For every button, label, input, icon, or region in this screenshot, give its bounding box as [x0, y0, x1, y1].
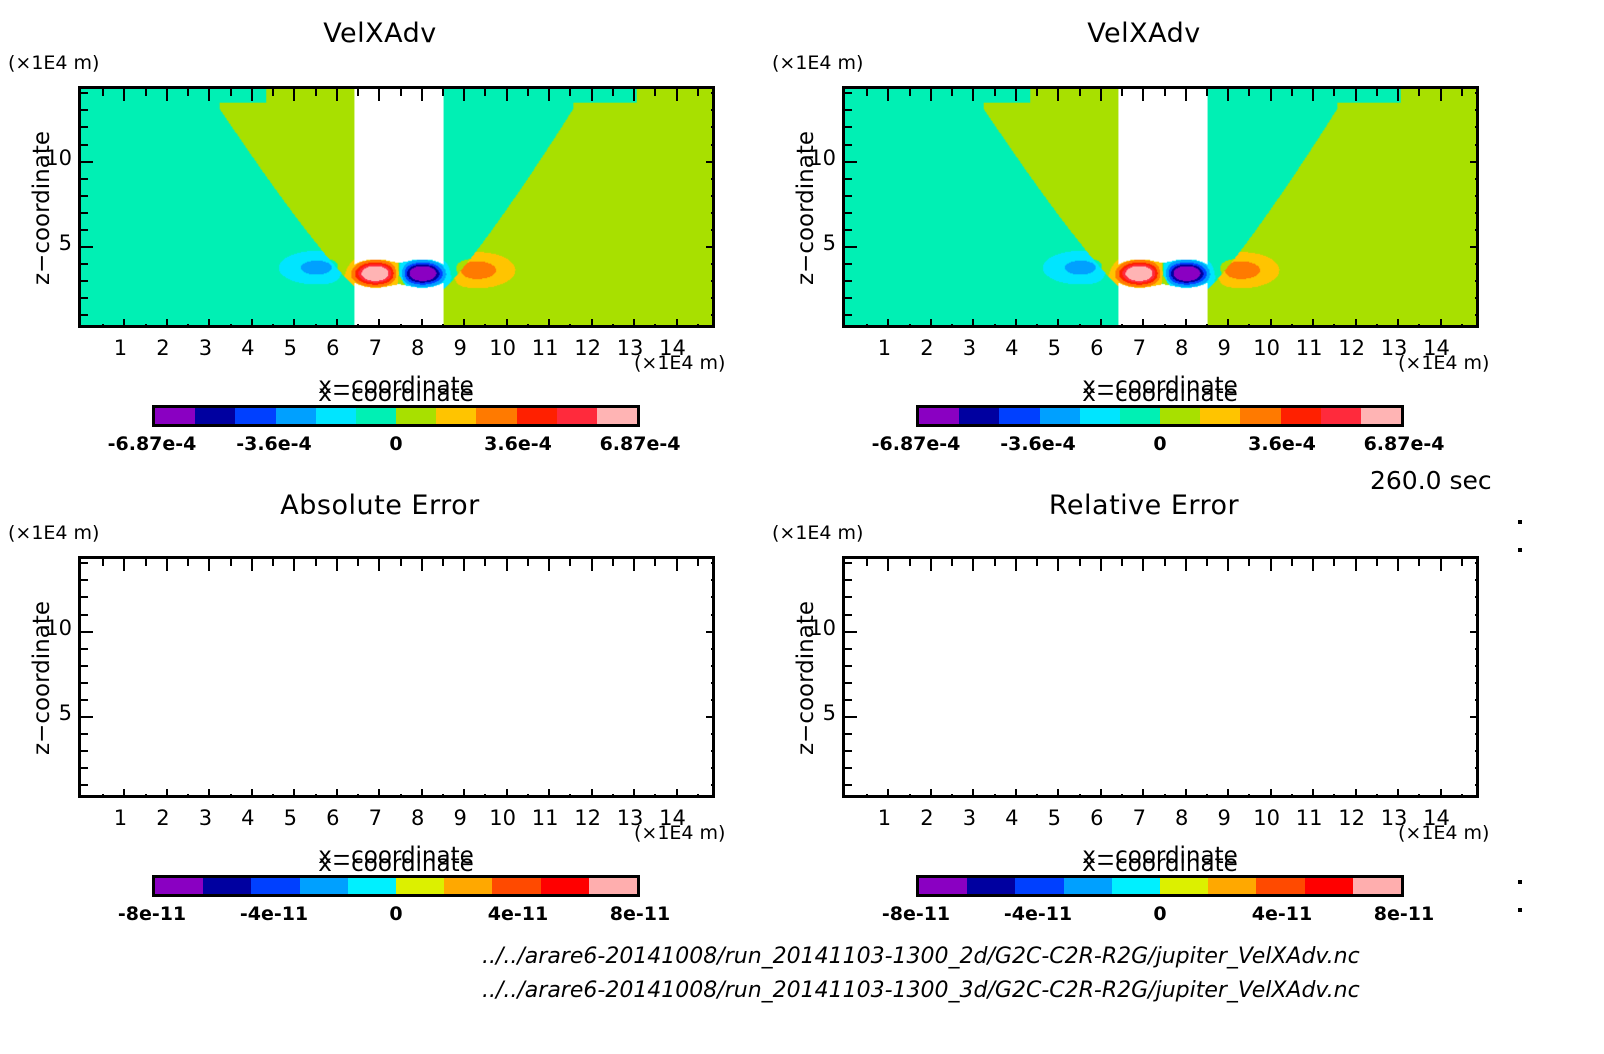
plot-area-velxadv-2d[interactable]: [78, 86, 715, 328]
x-axis-minor-tick: [1206, 324, 1208, 328]
x-axis-tick: [208, 559, 210, 571]
x-axis-minor-tick: [1376, 794, 1378, 798]
x-axis-tick-label: 7: [1133, 806, 1146, 830]
x-axis-minor-tick: [145, 324, 147, 328]
x-axis-tick: [972, 789, 974, 798]
x-axis-minor-tick: [1121, 89, 1123, 96]
colorbar-swatch: [1112, 878, 1160, 894]
x-axis-tick: [1397, 559, 1399, 571]
x-axis-minor-tick: [145, 794, 147, 798]
x-axis-tick-label: 6: [1090, 336, 1103, 360]
x-axis-minor-tick: [527, 89, 529, 96]
y-axis-tick: [706, 631, 715, 633]
x-axis-tick: [293, 559, 295, 571]
x-axis-tick: [251, 89, 253, 101]
x-axis-tick: [1355, 559, 1357, 571]
x-axis-minor-tick: [1248, 794, 1250, 798]
x-axis-tick: [1270, 559, 1272, 571]
x-axis-tick-label: 5: [284, 336, 297, 360]
y-axis-minor-tick: [1475, 562, 1479, 564]
x-axis-minor-tick: [1291, 794, 1293, 798]
x-axis-tick: [166, 559, 168, 571]
x-axis-tick: [336, 789, 338, 798]
y-axis-minor-tick: [1475, 314, 1479, 316]
x-axis-tick: [887, 789, 889, 798]
y-axis-minor-tick: [711, 92, 715, 94]
y-axis-minor-tick: [711, 767, 715, 769]
x-axis-tick: [1355, 89, 1357, 101]
x-axis-tick: [1397, 89, 1399, 101]
y-axis-minor-tick: [711, 263, 715, 265]
x-axis-tick-label: 14: [659, 806, 686, 830]
colorbar-tick-label: -3.6e-4: [1000, 433, 1076, 455]
y-axis-minor-tick: [845, 750, 852, 752]
x-axis-tick: [1355, 789, 1357, 798]
colorbar-swatch: [1200, 408, 1240, 424]
colorbar-swatch: [517, 408, 557, 424]
colorbar-swatch: [251, 878, 299, 894]
y-axis-minor-tick: [1475, 212, 1479, 214]
plot-area-velxadv-3d[interactable]: [842, 86, 1479, 328]
x-axis-minor-tick: [1248, 559, 1250, 566]
x-axis-minor-tick: [1079, 324, 1081, 328]
colorbar-swatch: [959, 408, 999, 424]
panel-absolute-error: Absolute Error (×1E4 m) z−coordinate x−c…: [0, 470, 760, 940]
plot-area-relative-error[interactable]: [842, 556, 1479, 798]
y-axis-minor-tick: [845, 178, 852, 180]
x-axis-tick: [930, 789, 932, 798]
x-axis-minor-tick: [1164, 794, 1166, 798]
y-axis-minor-tick: [845, 314, 852, 316]
colorbar-strip[interactable]: [152, 875, 640, 897]
x-axis-tick: [1312, 789, 1314, 798]
x-axis-tick-label: 1: [878, 336, 891, 360]
colorbar-swatch: [436, 408, 476, 424]
y-axis-tick: [706, 716, 715, 718]
colorbar-swatch: [1015, 878, 1063, 894]
x-axis-tick: [1100, 319, 1102, 328]
x-axis-minor-tick: [909, 89, 911, 96]
edge-artifact-dot: [1518, 908, 1522, 912]
colorbar-swatch: [203, 878, 251, 894]
x-axis-tick-label: 13: [1381, 336, 1408, 360]
x-axis-tick: [378, 559, 380, 571]
edge-artifact-dot: [1518, 880, 1522, 884]
colorbar-swatch: [356, 408, 396, 424]
x-axis-tick: [1057, 559, 1059, 571]
y-axis-minor-tick: [1475, 144, 1479, 146]
x-axis-tick: [1142, 559, 1144, 571]
x-axis-tick: [676, 319, 678, 328]
x-axis-tick: [208, 789, 210, 798]
colorbar-title: x−coordinate: [1082, 373, 1238, 399]
x-axis-tick: [676, 559, 678, 571]
y-axis-minor-tick: [845, 280, 852, 282]
x-axis-tick-label: 2: [156, 336, 169, 360]
x-axis-minor-tick: [1376, 89, 1378, 96]
y-axis-tick: [81, 246, 93, 248]
x-axis-minor-tick: [1291, 324, 1293, 328]
x-axis-minor-tick: [1036, 794, 1038, 798]
y-axis-minor-tick: [711, 109, 715, 111]
x-axis-tick-label: 11: [1296, 336, 1323, 360]
x-axis-minor-tick: [1079, 794, 1081, 798]
x-axis-minor-tick: [1248, 89, 1250, 96]
x-axis-tick-label: 2: [920, 806, 933, 830]
x-axis-tick: [1355, 319, 1357, 328]
colorbar-tick-label: 0: [389, 903, 402, 925]
y-axis-tick: [1470, 161, 1479, 163]
colorbar-swatch: [1040, 408, 1080, 424]
colorbar-strip[interactable]: [152, 405, 640, 427]
y-axis-minor-tick: [1475, 109, 1479, 111]
y-axis-minor-tick: [81, 665, 88, 667]
x-axis-minor-tick: [951, 794, 953, 798]
x-axis-tick: [1142, 89, 1144, 101]
colorbar-swatch: [1281, 408, 1321, 424]
y-axis-tick-label: 5: [808, 231, 836, 255]
colorbar-swatch: [589, 878, 637, 894]
panel-title: Absolute Error: [0, 490, 760, 521]
colorbar-tick-label: 3.6e-4: [484, 433, 552, 455]
y-axis-minor-tick: [845, 212, 852, 214]
y-axis-minor-tick: [1475, 579, 1479, 581]
x-axis-tick: [1227, 89, 1229, 101]
y-axis-minor-tick: [845, 784, 852, 786]
y-axis-minor-tick: [1475, 178, 1479, 180]
x-axis-tick: [1312, 319, 1314, 328]
x-axis-tick: [676, 789, 678, 798]
colorbar-swatch: [316, 408, 356, 424]
colorbar-swatch: [1160, 878, 1208, 894]
colorbar-title: x−coordinate: [318, 843, 474, 869]
colorbar-swatch: [919, 878, 967, 894]
y-axis-minor-tick: [81, 263, 88, 265]
x-axis-minor-tick: [909, 559, 911, 566]
colorbar-swatch: [235, 408, 275, 424]
x-axis-tick-label: 9: [1218, 336, 1231, 360]
x-axis-tick-label: 4: [241, 806, 254, 830]
x-axis-tick-label: 1: [114, 336, 127, 360]
x-axis-minor-tick: [951, 89, 953, 96]
colorbar-title: x−coordinate: [1082, 843, 1238, 869]
x-axis-minor-tick: [187, 324, 189, 328]
x-axis-minor-tick: [569, 324, 571, 328]
y-axis-minor-tick: [81, 109, 88, 111]
x-axis-tick: [1142, 319, 1144, 328]
x-axis-tick-label: 14: [1423, 806, 1450, 830]
x-axis-tick-label: 12: [1338, 336, 1365, 360]
x-axis-tick: [1312, 559, 1314, 571]
file-path-2d: ../../arare6-20141008/run_20141103-1300_…: [482, 944, 1360, 969]
x-axis-tick: [293, 789, 295, 798]
y-axis-minor-tick: [81, 92, 88, 94]
y-axis-tick-label: 10: [808, 146, 836, 170]
y-axis-minor-tick: [711, 579, 715, 581]
y-axis-tick: [81, 631, 93, 633]
x-axis-minor-tick: [994, 324, 996, 328]
y-axis-minor-tick: [711, 126, 715, 128]
colorbar-swatch: [1064, 878, 1112, 894]
x-axis-minor-tick: [1079, 559, 1081, 566]
x-axis-minor-tick: [1121, 324, 1123, 328]
x-axis-tick: [1227, 559, 1229, 571]
x-axis-tick: [208, 89, 210, 101]
colorbar-tick-label: 4e-11: [488, 903, 548, 925]
x-axis-tick: [463, 559, 465, 571]
x-axis-tick: [378, 89, 380, 101]
x-axis-tick: [548, 559, 550, 571]
y-axis-minor-tick: [711, 614, 715, 616]
colorbar-swatch: [492, 878, 540, 894]
x-axis-minor-tick: [1461, 89, 1463, 96]
x-axis-minor-tick: [1333, 559, 1335, 566]
x-axis-minor-tick: [866, 89, 868, 96]
x-axis-minor-tick: [569, 559, 571, 566]
x-axis-minor-tick: [1036, 89, 1038, 96]
x-axis-minor-tick: [951, 324, 953, 328]
x-axis-tick-label: 14: [659, 336, 686, 360]
x-axis-tick: [1185, 789, 1187, 798]
x-axis-minor-tick: [230, 324, 232, 328]
colorbar-swatch: [919, 408, 959, 424]
x-axis-tick-label: 3: [963, 336, 976, 360]
x-axis-tick: [548, 89, 550, 101]
x-axis-minor-tick: [909, 794, 911, 798]
y-axis-minor-tick: [1475, 784, 1479, 786]
y-axis-minor-tick: [81, 614, 88, 616]
y-axis-minor-tick: [1475, 665, 1479, 667]
x-axis-tick: [378, 789, 380, 798]
x-axis-tick: [166, 319, 168, 328]
x-axis-tick: [506, 319, 508, 328]
y-axis-minor-tick: [1475, 733, 1479, 735]
y-axis-minor-tick: [1475, 750, 1479, 752]
y-axis-minor-tick: [845, 699, 852, 701]
y-axis-minor-tick: [81, 784, 88, 786]
y-axis-minor-tick: [1475, 92, 1479, 94]
y-axis-minor-tick: [711, 750, 715, 752]
x-axis-minor-tick: [1079, 89, 1081, 96]
x-axis-minor-tick: [1164, 89, 1166, 96]
colorbar-tick-label: 0: [1153, 433, 1166, 455]
x-axis-tick: [972, 319, 974, 328]
y-axis-tick: [1470, 631, 1479, 633]
x-axis-tick: [421, 789, 423, 798]
x-axis-tick: [1227, 319, 1229, 328]
x-axis-minor-tick: [315, 89, 317, 96]
x-axis-minor-tick: [1376, 324, 1378, 328]
y-axis-minor-tick: [845, 92, 852, 94]
x-axis-tick-label: 12: [574, 336, 601, 360]
y-axis-minor-tick: [845, 579, 852, 581]
x-axis-tick: [591, 319, 593, 328]
x-axis-minor-tick: [1036, 559, 1038, 566]
y-axis-minor-tick: [711, 665, 715, 667]
x-axis-tick-label: 13: [1381, 806, 1408, 830]
panel-velxadv-2d: VelXAdv (×1E4 m) z−coordinate x−coordina…: [0, 0, 760, 470]
colorbar-swatch: [1256, 878, 1304, 894]
x-axis-minor-tick: [654, 89, 656, 96]
x-axis-minor-tick: [484, 324, 486, 328]
x-axis-tick: [887, 319, 889, 328]
y-axis-minor-tick: [1475, 126, 1479, 128]
x-axis-minor-tick: [612, 324, 614, 328]
x-axis-tick: [1057, 89, 1059, 101]
y-axis-tick: [845, 246, 857, 248]
x-axis-minor-tick: [1291, 559, 1293, 566]
x-axis-minor-tick: [654, 324, 656, 328]
x-axis-tick: [1185, 559, 1187, 571]
colorbar-swatch: [396, 878, 444, 894]
y-axis-tick: [706, 246, 715, 248]
x-axis-tick: [336, 559, 338, 571]
x-axis-minor-tick: [357, 794, 359, 798]
y-axis-minor-tick: [81, 750, 88, 752]
x-axis-tick-label: 9: [454, 336, 467, 360]
y-axis-minor-tick: [845, 109, 852, 111]
y-axis-minor-tick: [845, 665, 852, 667]
x-axis-minor-tick: [145, 89, 147, 96]
colorbar-swatch: [1240, 408, 1280, 424]
x-axis-minor-tick: [697, 794, 699, 798]
y-axis-minor-tick: [81, 648, 88, 650]
x-axis-tick-label: 7: [1133, 336, 1146, 360]
x-axis-minor-tick: [654, 559, 656, 566]
x-axis-tick: [463, 89, 465, 101]
x-axis-tick: [1440, 319, 1442, 328]
x-axis-tick: [1397, 789, 1399, 798]
x-axis-minor-tick: [442, 324, 444, 328]
x-axis-tick: [633, 789, 635, 798]
x-axis-minor-tick: [1376, 559, 1378, 566]
colorbar-tick-label: 0: [1153, 903, 1166, 925]
y-axis-minor-tick: [711, 178, 715, 180]
x-axis-minor-tick: [1333, 89, 1335, 96]
y-axis-minor-tick: [845, 733, 852, 735]
y-axis-minor-tick: [845, 682, 852, 684]
y-axis-tick: [845, 161, 857, 163]
x-axis-tick-label: 10: [489, 806, 516, 830]
y-axis-tick: [845, 716, 857, 718]
x-axis-tick-label: 11: [1296, 806, 1323, 830]
x-axis-minor-tick: [230, 89, 232, 96]
y-axis-minor-tick: [1475, 229, 1479, 231]
y-axis-minor-tick: [81, 682, 88, 684]
colorbar-tick-label: 4e-11: [1252, 903, 1312, 925]
x-axis-minor-tick: [102, 794, 104, 798]
x-axis-tick-label: 14: [1423, 336, 1450, 360]
x-axis-tick-label: 10: [1253, 336, 1280, 360]
x-axis-tick: [123, 789, 125, 798]
z-unit-label: (×1E4 m): [8, 52, 99, 74]
x-axis-tick: [506, 789, 508, 798]
x-axis-minor-tick: [187, 794, 189, 798]
x-axis-minor-tick: [102, 559, 104, 566]
x-axis-tick-label: 12: [574, 806, 601, 830]
x-axis-tick: [336, 89, 338, 101]
colorbar-tick-label: -8e-11: [118, 903, 186, 925]
y-axis-tick: [845, 631, 857, 633]
x-axis-tick-label: 3: [199, 806, 212, 830]
colorbar-tick-label: -4e-11: [1004, 903, 1072, 925]
colorbar-swatch: [1361, 408, 1401, 424]
x-axis-tick-label: 7: [369, 806, 382, 830]
y-axis-tick-label: 5: [808, 701, 836, 725]
x-axis-tick: [1015, 559, 1017, 571]
colorbar-strip[interactable]: [916, 875, 1404, 897]
y-axis-minor-tick: [711, 229, 715, 231]
x-axis-tick-label: 10: [489, 336, 516, 360]
x-axis-tick-label: 9: [1218, 806, 1231, 830]
y-axis-tick-label: 5: [44, 231, 72, 255]
x-axis-tick: [293, 89, 295, 101]
x-axis-tick: [972, 89, 974, 101]
x-axis-tick: [123, 319, 125, 328]
x-axis-tick: [421, 319, 423, 328]
y-axis-minor-tick: [1475, 699, 1479, 701]
y-axis-minor-tick: [845, 297, 852, 299]
colorbar-tick-label: 6.87e-4: [1364, 433, 1445, 455]
y-axis-tick: [1470, 246, 1479, 248]
x-axis-minor-tick: [866, 559, 868, 566]
x-axis-minor-tick: [951, 559, 953, 566]
x-axis-minor-tick: [400, 794, 402, 798]
x-axis-minor-tick: [527, 794, 529, 798]
x-axis-minor-tick: [1164, 559, 1166, 566]
y-axis-minor-tick: [711, 596, 715, 598]
x-axis-minor-tick: [569, 794, 571, 798]
x-axis-minor-tick: [400, 89, 402, 96]
x-axis-tick-label: 4: [1005, 336, 1018, 360]
colorbar-swatch: [348, 878, 396, 894]
y-axis-tick: [706, 161, 715, 163]
colorbar-strip[interactable]: [916, 405, 1404, 427]
x-axis-tick: [463, 789, 465, 798]
colorbar-swatch: [396, 408, 436, 424]
x-axis-minor-tick: [272, 794, 274, 798]
y-axis-tick: [81, 161, 93, 163]
x-axis-tick-label: 8: [1175, 336, 1188, 360]
x-axis-tick: [1057, 789, 1059, 798]
y-axis-minor-tick: [845, 144, 852, 146]
y-axis-minor-tick: [81, 195, 88, 197]
y-axis-minor-tick: [845, 263, 852, 265]
plot-area-absolute-error[interactable]: [78, 556, 715, 798]
colorbar-swatch: [300, 878, 348, 894]
y-axis-minor-tick: [845, 767, 852, 769]
x-axis-tick: [930, 319, 932, 328]
y-axis-minor-tick: [1475, 297, 1479, 299]
x-axis-tick-label: 8: [411, 336, 424, 360]
x-axis-minor-tick: [315, 794, 317, 798]
x-axis-minor-tick: [1206, 559, 1208, 566]
y-axis-minor-tick: [81, 144, 88, 146]
colorbar-swatch: [1353, 878, 1401, 894]
x-axis-tick: [336, 319, 338, 328]
x-axis-minor-tick: [697, 89, 699, 96]
x-axis-tick-label: 6: [326, 806, 339, 830]
x-axis-tick: [123, 559, 125, 571]
y-axis-minor-tick: [81, 596, 88, 598]
x-axis-tick: [1015, 319, 1017, 328]
x-axis-minor-tick: [697, 559, 699, 566]
x-axis-tick-label: 9: [454, 806, 467, 830]
x-axis-tick: [251, 559, 253, 571]
y-axis-minor-tick: [711, 280, 715, 282]
x-axis-minor-tick: [315, 559, 317, 566]
x-axis-tick-label: 6: [326, 336, 339, 360]
